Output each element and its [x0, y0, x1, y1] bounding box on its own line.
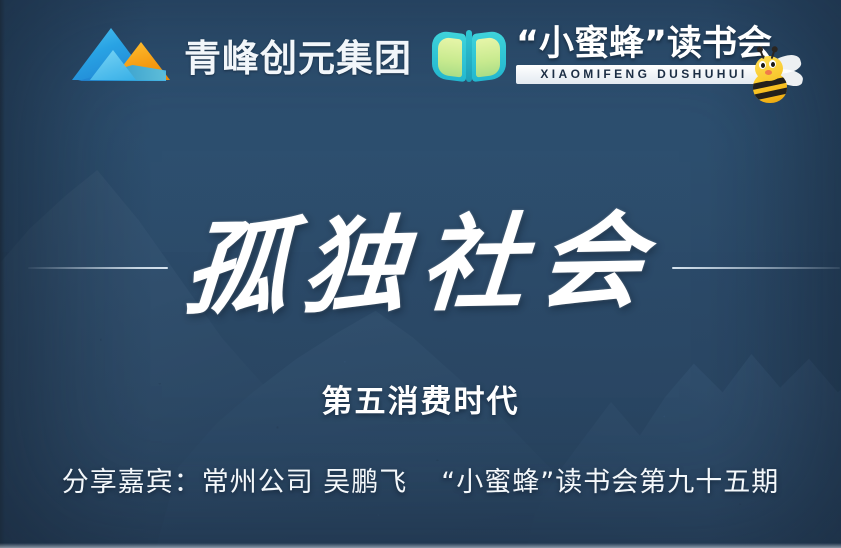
reading-club-pinyin-text: XIAOMIFENG DUSHUHUI: [540, 67, 747, 81]
slide-headline: 孤独社会: [0, 206, 841, 325]
footer-session-text: “小蜜蜂”读书会第九十五期: [441, 467, 779, 498]
bee-nose: [765, 70, 772, 75]
footer-presenter-text: 分享嘉宾：常州公司 吴鹏飞: [62, 467, 408, 498]
mountain-peaks-icon: [72, 26, 170, 84]
bee-mascot-icon: [745, 50, 807, 110]
bee-eye-right: [769, 60, 776, 68]
bee-head: [755, 56, 783, 81]
book-spine: [466, 30, 472, 82]
book-page-left: [438, 37, 462, 78]
logo-qingfeng-chuangyuan-group: 青峰创元集团: [72, 26, 412, 84]
slide-footer: 分享嘉宾：常州公司 吴鹏飞“小蜜蜂”读书会第九十五期: [0, 460, 841, 499]
reading-club-name-text: “小蜜蜂”读书会: [516, 26, 772, 63]
slide-subtitle: 第五消费时代: [0, 376, 841, 421]
logo-row: 青峰创元集团 “小蜜蜂”读书会 XIAOMIFENG DUSHUHUI: [0, 18, 841, 96]
presentation-slide: 青峰创元集团 “小蜜蜂”读书会 XIAOMIFENG DUSHUHUI: [0, 0, 841, 548]
company-name-text: 青峰创元集团: [184, 28, 412, 82]
book-page-right: [476, 37, 500, 78]
open-book-icon: [432, 24, 506, 86]
slide-bottom-edge-highlight: [0, 543, 841, 548]
logo-xiaomifeng-reading-club: “小蜜蜂”读书会 XIAOMIFENG DUSHUHUI: [432, 24, 772, 86]
reading-club-lockup: “小蜜蜂”读书会 XIAOMIFENG DUSHUHUI: [516, 26, 772, 84]
reading-club-pinyin-band: XIAOMIFENG DUSHUHUI: [516, 65, 772, 84]
bee-eye-left: [759, 61, 766, 69]
